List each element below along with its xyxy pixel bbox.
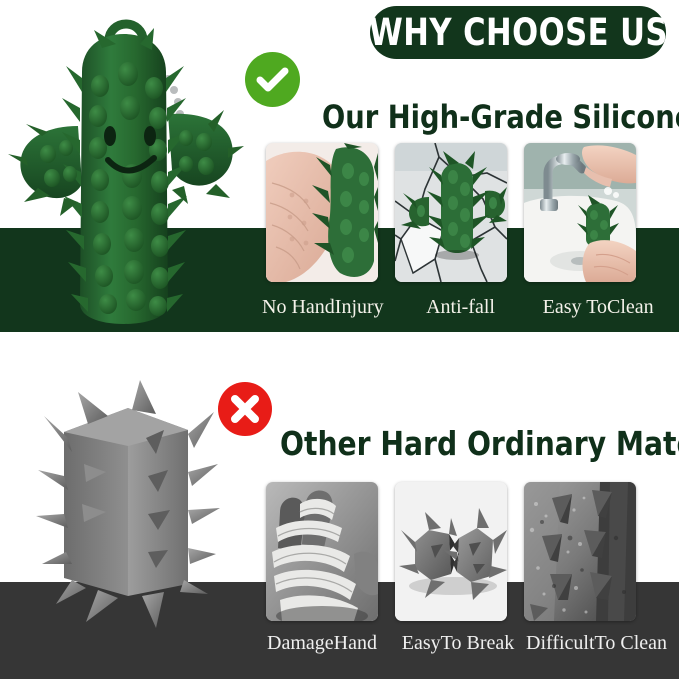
caption-easy-to-break: EasyTo Break xyxy=(390,632,526,655)
thumbnail-damage-hand xyxy=(266,482,378,621)
why-choose-us-banner: WHY CHOOSE US xyxy=(370,6,666,59)
bad-caption-row: DamageHand EasyTo Break DifficultTo Clea… xyxy=(254,632,667,655)
thumbnail-difficult-to-clean xyxy=(524,482,636,621)
banner-title: WHY CHOOSE US xyxy=(369,11,668,54)
caption-difficult-to-clean: DifficultTo Clean xyxy=(526,632,667,655)
caption-easy-to-clean: Easy ToClean xyxy=(529,296,667,319)
caption-damage-hand: DamageHand xyxy=(254,632,390,655)
bad-section-heading: Other Hard Ordinary Materials xyxy=(280,424,679,463)
good-section-heading: Our High-Grade Silicone xyxy=(322,98,679,136)
hero-image-hard-plastic-block xyxy=(24,372,232,644)
check-circle-icon xyxy=(245,52,300,107)
thumbnail-easy-to-break xyxy=(395,482,507,621)
thumbnail-no-hand-injury xyxy=(266,143,378,282)
cross-circle-icon xyxy=(218,382,272,436)
bad-thumbnail-row xyxy=(266,482,636,621)
good-caption-row: No HandInjury Anti-fall Easy ToClean xyxy=(254,296,667,319)
caption-no-hand-injury: No HandInjury xyxy=(254,296,392,319)
caption-anti-fall: Anti-fall xyxy=(392,296,530,319)
hero-image-silicone-cactus xyxy=(8,8,244,334)
thumbnail-anti-fall xyxy=(395,143,507,282)
product-comparison-infographic: WHY CHOOSE US Our High-Grade Silicone xyxy=(0,0,679,679)
thumbnail-easy-to-clean xyxy=(524,143,636,282)
good-thumbnail-row xyxy=(266,143,636,282)
